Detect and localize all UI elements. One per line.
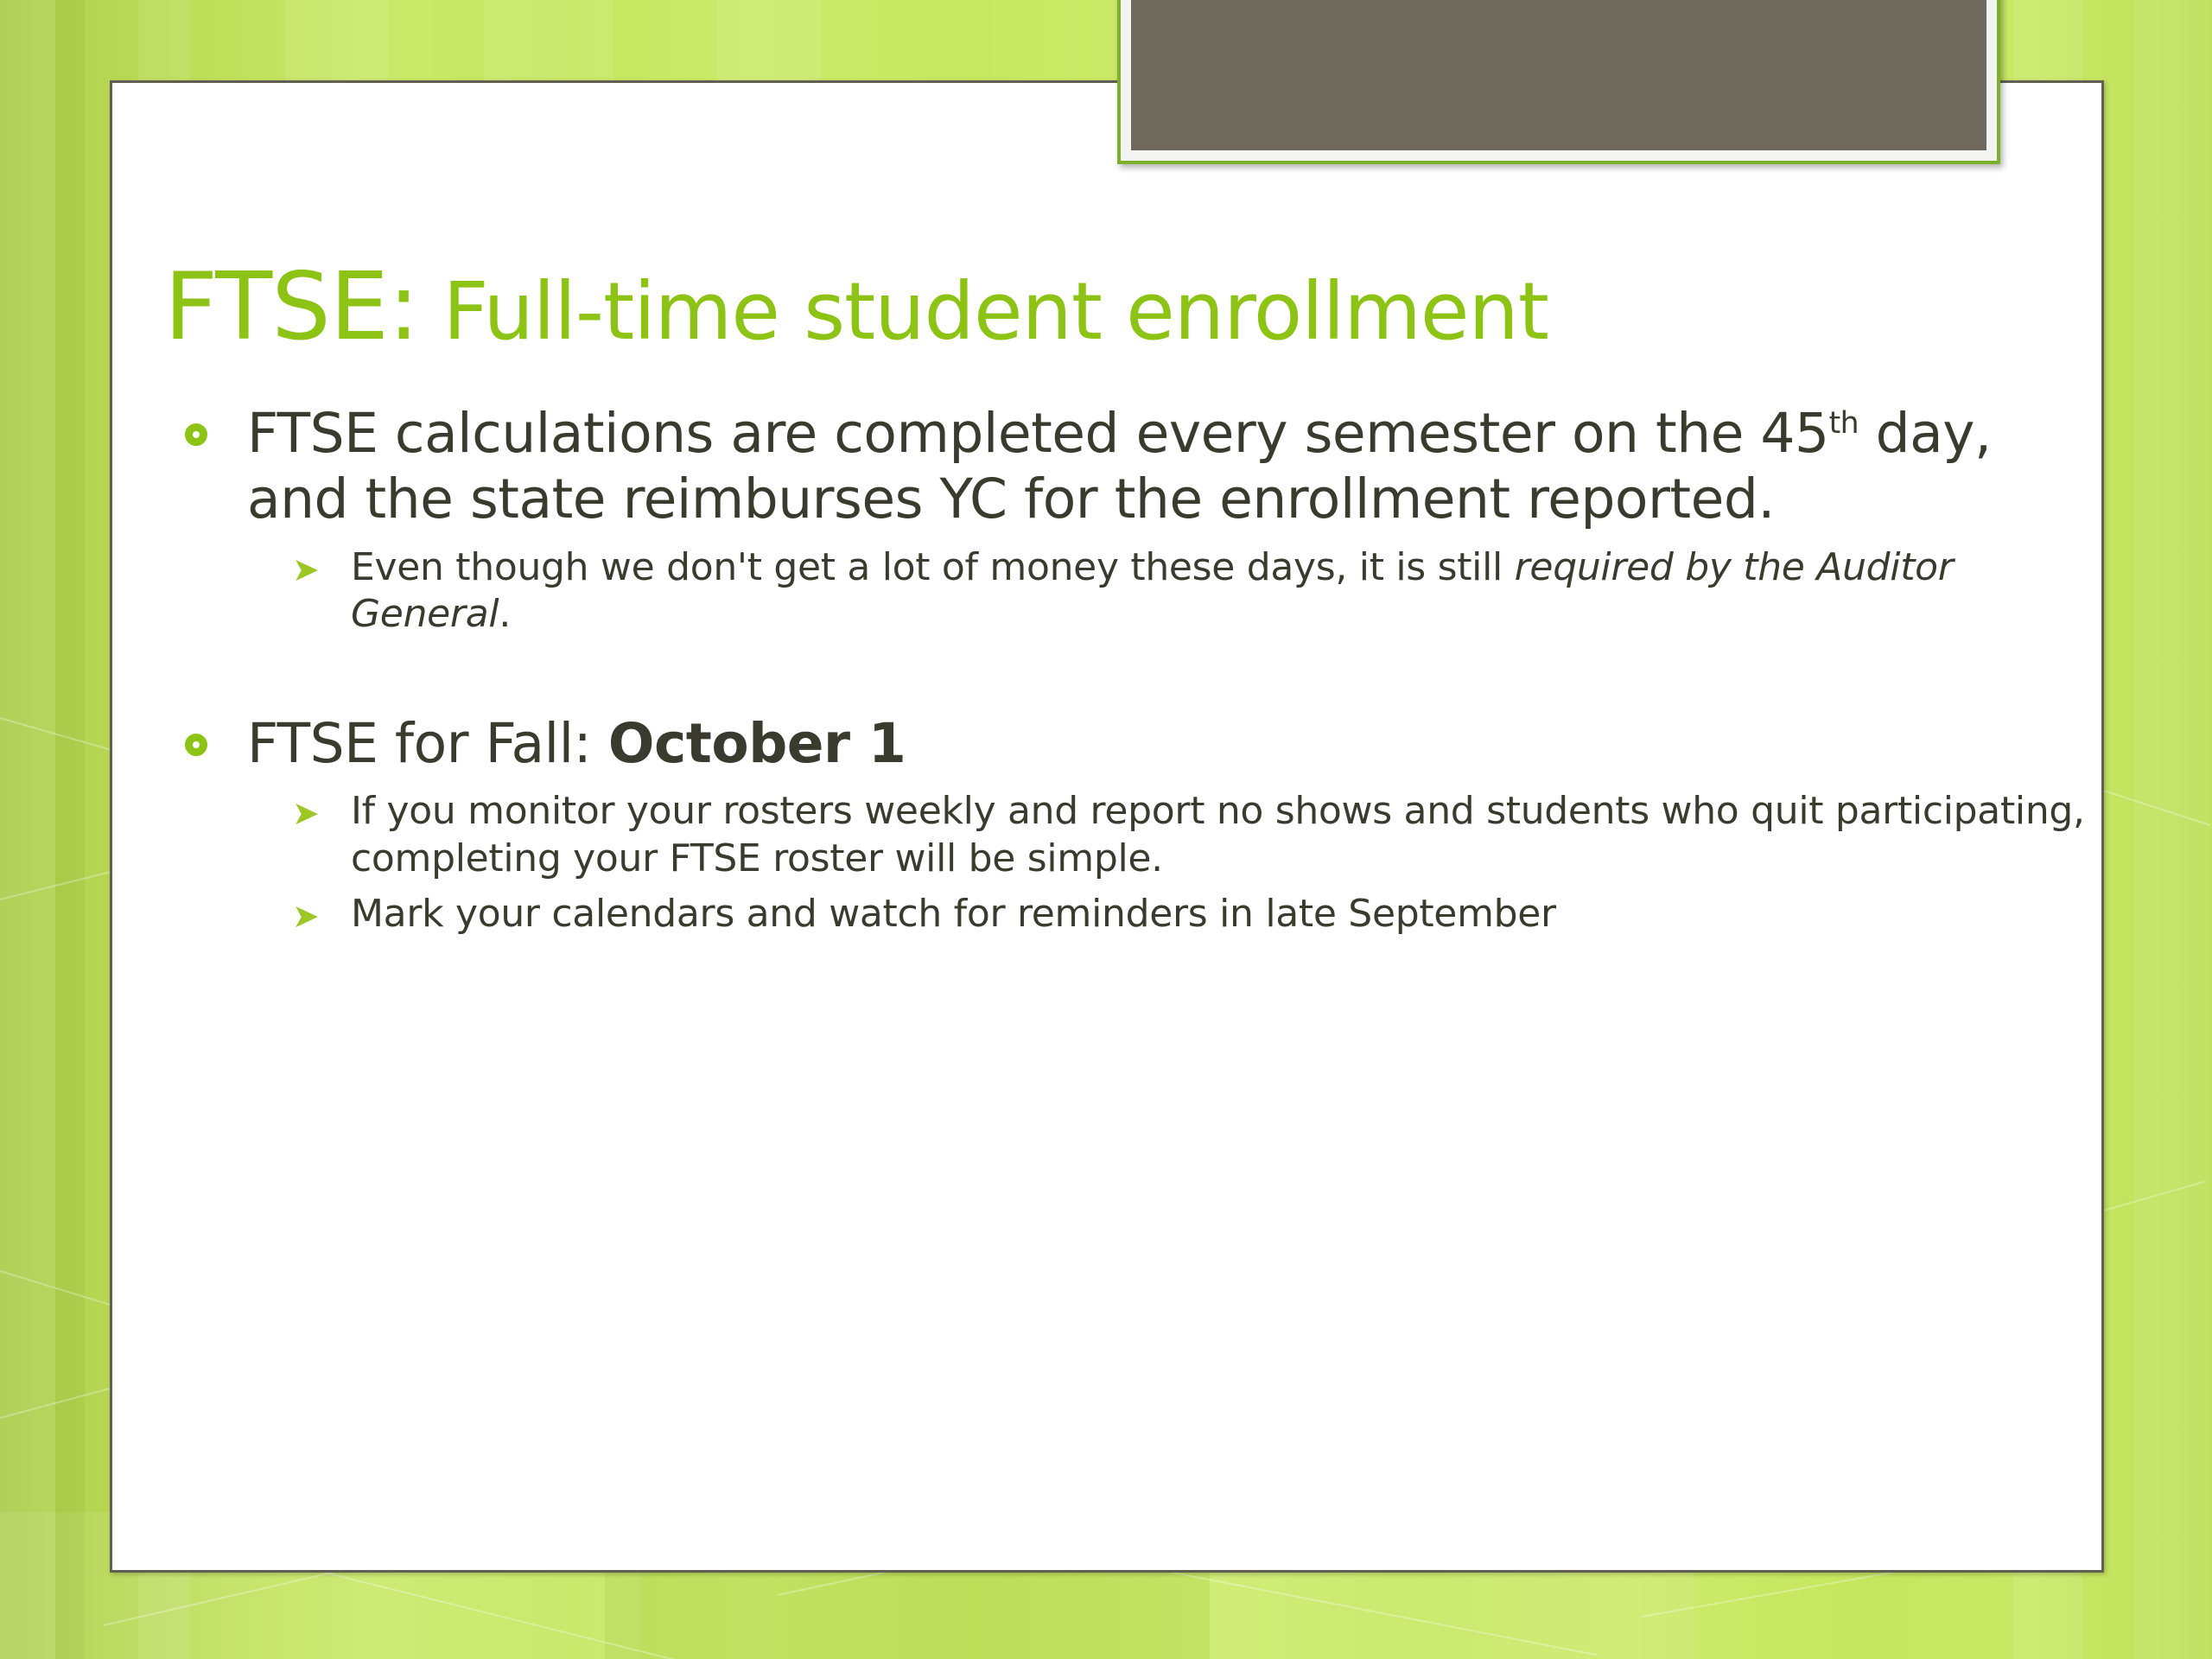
ring-bullet-icon	[185, 734, 207, 756]
page-title: FTSE: Full-time student enrollment	[164, 259, 2108, 356]
slide-body: FTSE: Full-time student enrollment FTSE …	[164, 259, 2108, 947]
bullet-list-level2: ➤ Even though we don't get a lot of mone…	[247, 544, 2108, 639]
arrow-bullet-icon: ➤	[292, 553, 320, 586]
bullet-spacer	[164, 647, 2108, 711]
bg-facet	[0, 0, 55, 1659]
bullet-text-pre: FTSE for Fall:	[247, 712, 608, 775]
slide-canvas: FTSE: Full-time student enrollment FTSE …	[0, 0, 2212, 1659]
subbullet-text-pre: Mark your calendars and watch for remind…	[351, 892, 1556, 936]
bullet-ftse-calculations: FTSE calculations are completed every se…	[164, 401, 2108, 638]
subbullet-mark-calendars: ➤ Mark your calendars and watch for remi…	[247, 891, 2108, 938]
bg-facet	[2134, 0, 2212, 1659]
page-title-sub: Full-time student enrollment	[418, 265, 1548, 358]
bullet-text-bold: October 1	[608, 712, 906, 775]
arrow-bullet-icon: ➤	[292, 797, 320, 829]
subbullet-text-post: .	[499, 592, 511, 636]
ring-bullet-icon	[185, 423, 207, 446]
subbullet-monitor-rosters: ➤ If you monitor your rosters weekly and…	[247, 788, 2108, 882]
bg-facet	[55, 0, 85, 1659]
bullet-text-superscript: th	[1829, 406, 1859, 441]
page-title-main: FTSE:	[164, 253, 418, 361]
bullet-list-level1: FTSE calculations are completed every se…	[164, 401, 2108, 938]
subbullet-auditor-general: ➤ Even though we don't get a lot of mone…	[247, 544, 2108, 639]
bullet-list-level2: ➤ If you monitor your rosters weekly and…	[247, 788, 2108, 938]
picture-placeholder-frame	[1117, 0, 2000, 164]
picture-placeholder	[1131, 0, 1986, 150]
subbullet-text-pre: If you monitor your rosters weekly and r…	[351, 789, 2085, 880]
bullet-ftse-for-fall: FTSE for Fall: October 1 ➤ If you monito…	[164, 711, 2108, 938]
bullet-text-pre: FTSE calculations are completed every se…	[247, 402, 1829, 465]
arrow-bullet-icon: ➤	[292, 899, 320, 932]
subbullet-text-pre: Even though we don't get a lot of money …	[351, 545, 1515, 589]
